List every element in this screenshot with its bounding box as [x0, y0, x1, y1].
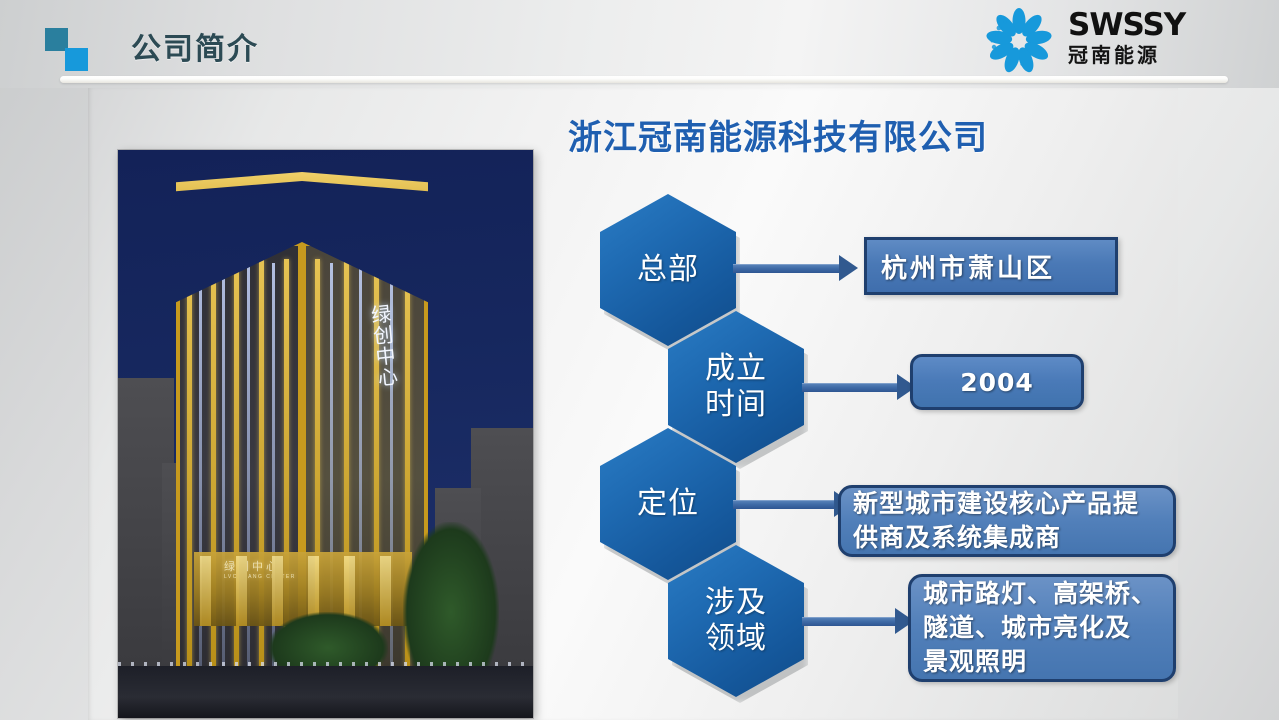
tower-crown-lighting — [176, 172, 428, 236]
value-text-1: 杭州市萧山区 — [881, 248, 1055, 285]
building-sign-vertical: 绿创中心 — [366, 303, 399, 389]
page-title: 公司简介 — [131, 24, 259, 68]
slide-header: 公司简介 — [0, 0, 1279, 88]
value-box-positioning[interactable]: 新型城市建设核心产品提供商及系统集成商 — [838, 485, 1176, 557]
square-decor-light-icon — [65, 48, 88, 71]
company-facts-diagram: 总部 杭州市萧山区 成立时间 2004 定位 新型城市建设核心产品提供商及系统集… — [568, 190, 1208, 715]
hex-label-3: 定位 — [637, 486, 699, 522]
arrow-right-icon-3 — [733, 491, 853, 517]
main-tower: 绿创中心 绿创中心LVCHUANG CENTER — [176, 172, 428, 672]
value-box-founding-year[interactable]: 2004 — [910, 354, 1084, 410]
logo-wordmark: SWSSY 冠南能源 — [1068, 8, 1224, 69]
hex-label-4: 涉及领域 — [705, 585, 767, 657]
value-box-fields[interactable]: 城市路灯、高架桥、隧道、城市亮化及景观照明 — [908, 574, 1176, 682]
foreground-tree — [403, 522, 499, 672]
arrow-right-icon-1 — [733, 255, 858, 281]
logo-latin-name: SWSSY — [1068, 8, 1224, 42]
street-road — [118, 666, 533, 718]
company-logo: SWSSY 冠南能源 — [974, 6, 1224, 78]
value-text-2: 2004 — [960, 368, 1034, 397]
hex-label-1: 总部 — [637, 252, 699, 288]
water-droplet-petal-emblem-icon — [974, 8, 1064, 74]
company-name-heading: 浙江冠南能源科技有限公司 — [568, 110, 988, 159]
company-headquarters-night-photo: 绿创中心 绿创中心LVCHUANG CENTER — [118, 150, 533, 718]
value-text-3: 新型城市建设核心产品提供商及系统集成商 — [853, 487, 1139, 555]
arrow-right-icon-2 — [802, 374, 916, 400]
value-box-headquarters[interactable]: 杭州市萧山区 — [864, 237, 1118, 295]
header-decoration — [45, 28, 101, 68]
logo-chinese-name: 冠南能源 — [1068, 43, 1224, 69]
building-entrance-sign: 绿创中心LVCHUANG CENTER — [224, 558, 296, 580]
arrow-right-icon-4 — [802, 608, 914, 634]
value-text-4: 城市路灯、高架桥、隧道、城市亮化及景观照明 — [923, 577, 1157, 679]
hex-label-2: 成立时间 — [705, 351, 767, 423]
